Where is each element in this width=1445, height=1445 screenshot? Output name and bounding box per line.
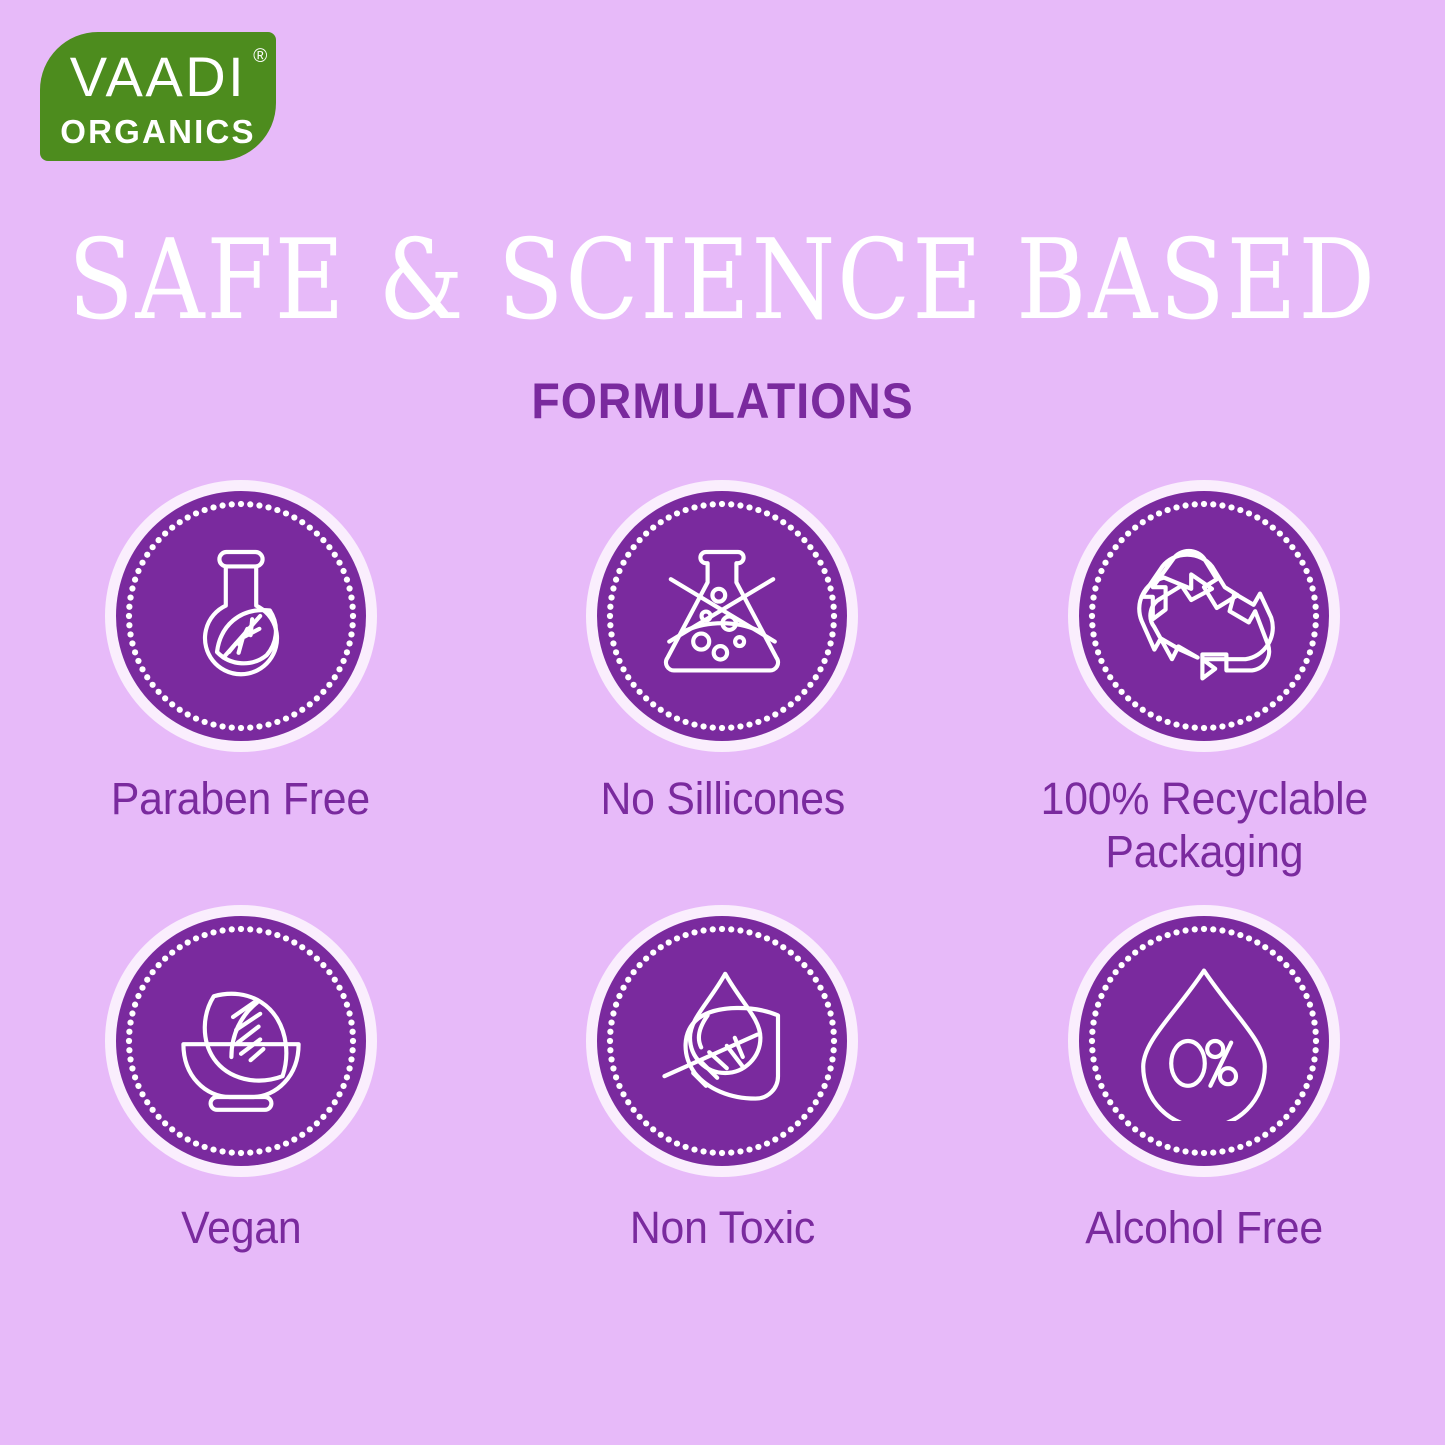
badge-inner-circle bbox=[597, 916, 847, 1166]
badge-label: Non Toxic bbox=[630, 1201, 815, 1254]
page-title: SAFE & SCIENCE BASED bbox=[58, 225, 1387, 335]
droplet-on-leaf-icon bbox=[642, 961, 802, 1121]
badge-alcohol-free: Alcohol Free bbox=[989, 905, 1419, 1254]
brand-name-text: VAADI bbox=[70, 45, 246, 108]
badge-inner-circle bbox=[116, 491, 366, 741]
badge-recyclable-packaging: 100% RecyclablePackaging bbox=[989, 480, 1419, 878]
badge-label: 100% RecyclablePackaging bbox=[1040, 772, 1367, 878]
brand-name: VAADI ® bbox=[70, 49, 246, 105]
badge-paraben-free: Paraben Free bbox=[26, 480, 456, 878]
crossed-out-flask-icon bbox=[642, 536, 802, 696]
badge-label: No Sillicones bbox=[600, 772, 845, 825]
registered-trademark-icon: ® bbox=[253, 47, 267, 66]
badge-inner-circle bbox=[1079, 491, 1329, 741]
badge-inner-circle bbox=[116, 916, 366, 1166]
badge-disc bbox=[105, 480, 377, 752]
badge-non-toxic: Non Toxic bbox=[507, 905, 937, 1254]
badge-inner-circle bbox=[1079, 916, 1329, 1166]
brand-subname: ORGANICS bbox=[60, 115, 255, 148]
recycling-arrows-icon bbox=[1124, 536, 1284, 696]
badge-inner-circle bbox=[597, 491, 847, 741]
brand-logo: VAADI ® ORGANICS bbox=[40, 32, 276, 161]
badge-disc bbox=[105, 905, 377, 1177]
badge-label: Paraben Free bbox=[111, 772, 370, 825]
badge-disc bbox=[1068, 480, 1340, 752]
badge-no-sillicones: No Sillicones bbox=[507, 480, 937, 878]
badge-vegan: Vegan bbox=[26, 905, 456, 1254]
feature-badge-grid: Paraben Free bbox=[0, 480, 1445, 1254]
badge-disc bbox=[1068, 905, 1340, 1177]
flask-with-leaf-icon bbox=[161, 536, 321, 696]
zero-percent-droplet-icon bbox=[1124, 961, 1284, 1121]
headline-container: SAFE & SCIENCE BASED bbox=[0, 228, 1445, 332]
page-subtitle: FORMULATIONS bbox=[51, 372, 1395, 430]
bowl-with-leaf-icon bbox=[161, 961, 321, 1121]
badge-disc bbox=[586, 905, 858, 1177]
badge-disc bbox=[586, 480, 858, 752]
badge-label: Vegan bbox=[181, 1201, 301, 1254]
badge-label: Alcohol Free bbox=[1085, 1201, 1323, 1254]
